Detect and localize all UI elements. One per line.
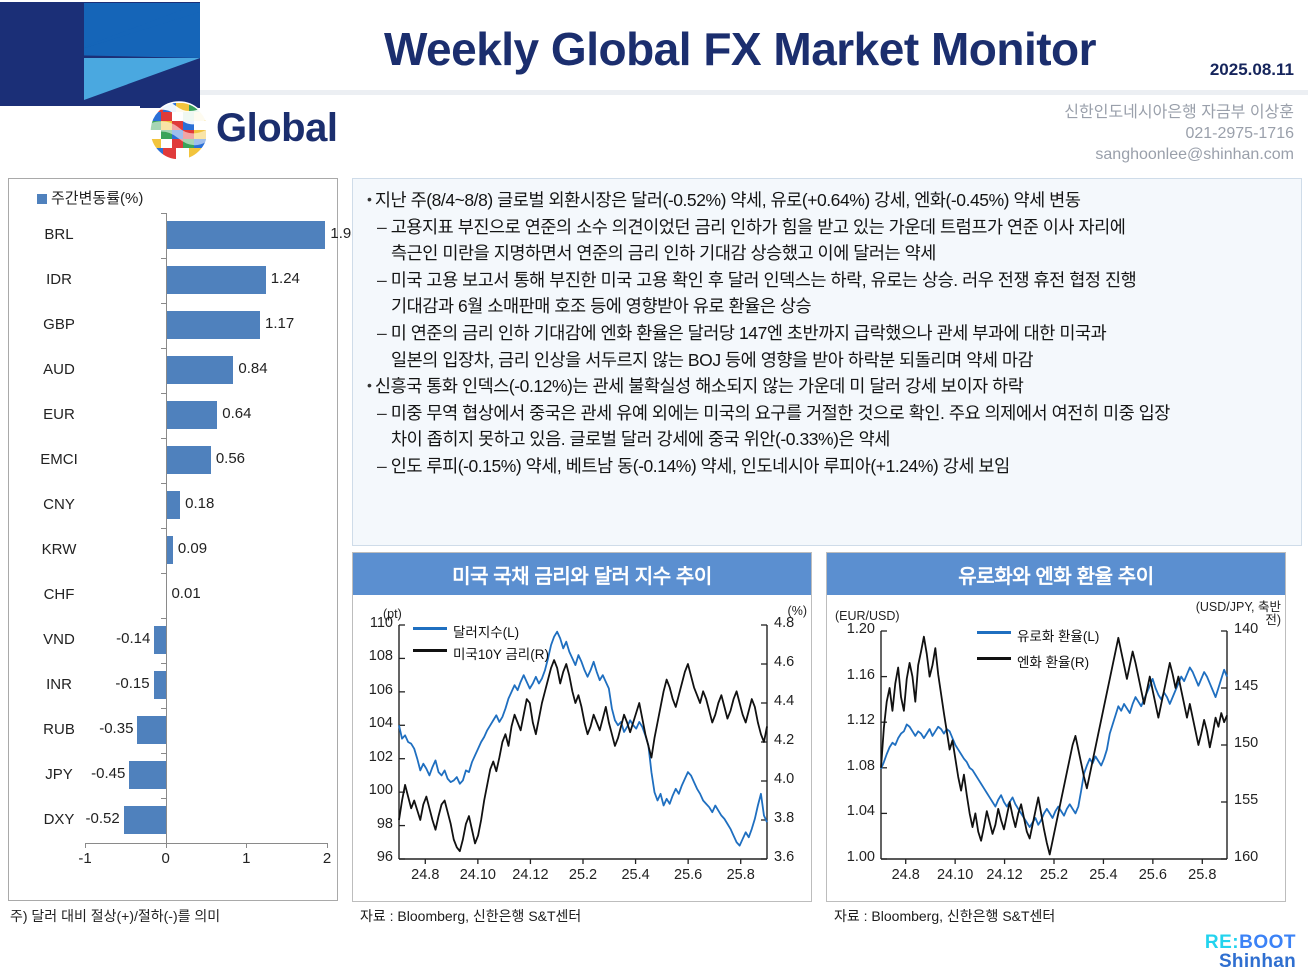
left-axis-tick-label: 98 <box>355 816 393 832</box>
bar-segment <box>166 311 260 339</box>
x-axis-tick-label: 1 <box>242 850 250 867</box>
reboot-shinhan-logo: RE:BOOT Shinhan <box>1205 933 1296 971</box>
commentary-line: 고용지표 부진으로 연준의 소수 의견이었던 금리 인하가 힘을 받고 있는 가… <box>363 214 1291 241</box>
x-axis-tick-label: 25.2 <box>569 867 597 883</box>
reboot-suffix: BOOT <box>1239 932 1296 953</box>
bar-plot-area: BRL1.98IDR1.24GBP1.17AUD0.84EUR0.64EMCI0… <box>9 213 337 863</box>
legend-label-1: 미국10Y 금리(R) <box>453 643 549 663</box>
contact-phone: 021-2975-1716 <box>1064 123 1294 144</box>
left-axis-tick-label: 108 <box>355 648 393 664</box>
commentary-line: 미국 고용 보고서 통해 부진한 미국 고용 확인 후 달러 인덱스는 하락, … <box>363 267 1291 294</box>
commentary-box: 지난 주(8/4~8/8) 글로벌 외환시장은 달러(-0.52%) 약세, 유… <box>352 178 1302 546</box>
right-axis-tick-label: 4.4 <box>774 693 794 709</box>
left-axis-tick-label: 96 <box>355 849 393 865</box>
x-axis-tick-label: 24.8 <box>892 867 920 883</box>
bar-row: BRL1.98 <box>9 213 337 258</box>
bar-value-label: 0.01 <box>171 585 200 602</box>
left-axis-tick-label: 1.08 <box>829 758 875 774</box>
series-line-0 <box>399 632 767 846</box>
legend-label: 주간변동률(%) <box>51 190 143 207</box>
weekly-change-bar-chart: 주간변동률(%) BRL1.98IDR1.24GBP1.17AUD0.84EUR… <box>8 178 338 901</box>
chart-body-eur-jpy: 1.001.041.081.121.161.201401451501551602… <box>827 595 1285 901</box>
x-axis-line <box>85 843 327 844</box>
bar-row: CNY0.18 <box>9 483 337 528</box>
left-axis-tick-label: 102 <box>355 749 393 765</box>
bar-segment <box>124 806 166 834</box>
bar-value-label: 0.18 <box>185 495 214 512</box>
legend-label-1: 엔화 환율(R) <box>1017 651 1089 671</box>
chart-body-ust-dxy: 96981001021041061081103.63.84.04.24.44.6… <box>353 595 811 901</box>
contact-name: 신한인도네시아은행 자금부 이상훈 <box>1064 102 1294 123</box>
legend-line-1 <box>977 657 1011 660</box>
right-axis-tick-label: 3.6 <box>774 849 794 865</box>
x-axis-tick-label: 25.6 <box>1139 867 1167 883</box>
left-axis-tick-label: 1.04 <box>829 803 875 819</box>
bar-row: VND-0.14 <box>9 618 337 663</box>
right-axis-tick-label: 4.0 <box>774 771 794 787</box>
bar-category-label: INR <box>29 676 89 693</box>
right-axis-unit: (%) <box>721 605 807 618</box>
commentary-line: 기대감과 6월 소매판매 호조 등에 영향받아 유로 환율은 상승 <box>363 293 1291 320</box>
right-axis-tick-label: 4.6 <box>774 654 794 670</box>
bar-category-label: RUB <box>29 721 89 738</box>
commentary-line: 미중 무역 협상에서 중국은 관세 유예 외에는 미국의 요구를 거절한 것으로… <box>363 400 1291 427</box>
header-divider <box>200 90 1308 95</box>
bar-segment <box>166 221 326 249</box>
bar-category-label: IDR <box>29 271 89 288</box>
bar-row: EUR0.64 <box>9 393 337 438</box>
bar-category-label: VND <box>29 631 89 648</box>
bar-value-label: 0.56 <box>216 450 245 467</box>
x-axis-tick-label: 25.8 <box>727 867 755 883</box>
left-axis-unit: (EUR/USD) <box>835 609 900 623</box>
legend-label-0: 유로화 환율(L) <box>1017 625 1099 645</box>
x-axis-tick <box>166 843 167 848</box>
commentary-line: 차이 좁히지 못하고 있음. 글로벌 달러 강세에 중국 위안(-0.33%)은… <box>363 426 1291 453</box>
bar-segment <box>137 716 165 744</box>
bar-category-label: JPY <box>29 766 89 783</box>
chart-title-eur-jpy: 유로화와 엔화 환율 추이 <box>827 553 1285 595</box>
commentary-line: 인도 루피(-0.15%) 약세, 베트남 동(-0.14%) 약세, 인도네시… <box>363 453 1291 480</box>
bar-segment <box>154 671 166 699</box>
bar-row: JPY-0.45 <box>9 753 337 798</box>
bar-row: KRW0.09 <box>9 528 337 573</box>
commentary-line: 미 연준의 금리 인하 기대감에 엔화 환율은 달러당 147엔 초반까지 급락… <box>363 320 1291 347</box>
contact-block: 신한인도네시아은행 자금부 이상훈 021-2975-1716 sanghoon… <box>1064 102 1294 165</box>
left-axis-tick-label: 100 <box>355 782 393 798</box>
bar-value-label: -0.15 <box>114 675 150 692</box>
right-axis-tick-label: 4.2 <box>774 732 794 748</box>
chart-source-left: 자료 : Bloomberg, 신한은행 S&T센터 <box>360 906 581 926</box>
bar-row: RUB-0.35 <box>9 708 337 753</box>
page-title: Weekly Global FX Market Monitor <box>380 22 1100 76</box>
x-axis-tick-label: 25.6 <box>674 867 702 883</box>
bar-segment <box>166 491 181 519</box>
bar-chart-note: 주) 달러 대비 절상(+)/절하(-)를 의미 <box>10 906 220 926</box>
shinhan-wordmark: Shinhan <box>1205 952 1296 971</box>
bar-category-label: EMCI <box>29 451 89 468</box>
bar-segment <box>166 266 266 294</box>
bar-value-label: -0.45 <box>89 765 125 782</box>
contact-email: sanghoonlee@shinhan.com <box>1064 144 1294 165</box>
commentary-line: 측근인 미란을 지명하면서 연준의 금리 인하 기대감 상승했고 이에 달러는 … <box>363 240 1291 267</box>
right-axis-tick-label: 3.8 <box>774 810 794 826</box>
bar-value-label: -0.35 <box>97 720 133 737</box>
commentary-line: 신흥국 통화 인덱스(-0.12%)는 관세 불확실성 해소되지 않는 가운데 … <box>363 373 1291 400</box>
series-line-0 <box>881 667 1227 827</box>
bar-segment <box>166 536 173 564</box>
reboot-prefix: RE: <box>1205 932 1239 953</box>
x-axis-tick-label: 24.10 <box>460 867 496 883</box>
legend-label-0: 달러지수(L) <box>453 621 519 641</box>
bar-value-label: 0.84 <box>238 360 267 377</box>
legend-swatch-icon <box>37 194 47 204</box>
bar-chart-legend: 주간변동률(%) <box>37 187 143 208</box>
bar-row: AUD0.84 <box>9 348 337 393</box>
x-axis-tick-label: 0 <box>161 850 169 867</box>
bar-category-label: CHF <box>29 586 89 603</box>
left-axis-tick-label: 1.12 <box>829 712 875 728</box>
bar-category-label: AUD <box>29 361 89 378</box>
chart-panel-ust-dxy: 미국 국채 금리와 달러 지수 추이 969810010210410610811… <box>352 552 812 902</box>
series-line-1 <box>399 660 767 851</box>
bar-category-label: KRW <box>29 541 89 558</box>
left-axis-tick-label: 1.16 <box>829 667 875 683</box>
x-axis-tick <box>85 843 86 848</box>
legend-line-0 <box>977 631 1011 634</box>
x-axis-tick-label: 24.8 <box>411 867 439 883</box>
x-axis-tick-label: 24.12 <box>986 867 1022 883</box>
legend-line-1 <box>413 649 447 652</box>
bar-category-label: BRL <box>29 226 89 243</box>
report-date: 2025.08.11 <box>1210 60 1294 80</box>
right-axis-tick-label: 150 <box>1234 735 1258 751</box>
section-label: Global <box>216 106 337 151</box>
page-header: Weekly Global FX Market Monitor 2025.08.… <box>0 0 1308 172</box>
bar-row: EMCI0.56 <box>9 438 337 483</box>
left-axis-unit: (pt) <box>383 607 402 621</box>
reboot-wordmark: RE:BOOT <box>1205 933 1296 952</box>
x-axis-tick-label: -1 <box>78 850 91 867</box>
bar-category-label: EUR <box>29 406 89 423</box>
bar-row: DXY-0.52 <box>9 798 337 843</box>
bar-segment <box>154 626 165 654</box>
legend-line-0 <box>413 627 447 630</box>
x-axis-tick-label: 2 <box>323 850 331 867</box>
bar-category-label: GBP <box>29 316 89 333</box>
bar-row: GBP1.17 <box>9 303 337 348</box>
bar-row: IDR1.24 <box>9 258 337 303</box>
left-axis-tick-label: 1.00 <box>829 849 875 865</box>
bar-segment <box>166 446 211 474</box>
bar-category-label: DXY <box>29 811 89 828</box>
left-axis-tick-label: 106 <box>355 682 393 698</box>
x-axis-tick-label: 25.8 <box>1188 867 1216 883</box>
x-axis-tick-label: 25.4 <box>1089 867 1117 883</box>
x-axis-tick-label: 25.2 <box>1040 867 1068 883</box>
x-axis-tick-label: 24.10 <box>937 867 973 883</box>
bar-value-label: 0.09 <box>178 540 207 557</box>
left-axis-tick-label: 1.20 <box>829 621 875 637</box>
right-axis-tick-label: 160 <box>1234 849 1258 865</box>
commentary-line: 일본의 입장차, 금리 인상을 서두르지 않는 BOJ 등에 영향을 받아 하락… <box>363 347 1291 374</box>
x-axis-tick-label: 25.4 <box>621 867 649 883</box>
bar-value-label: 1.17 <box>265 315 294 332</box>
bar-value-label: -0.14 <box>114 630 150 647</box>
left-axis-tick-label: 104 <box>355 715 393 731</box>
chart-source-right: 자료 : Bloomberg, 신한은행 S&T센터 <box>834 906 1055 926</box>
right-axis-tick-label: 145 <box>1234 678 1258 694</box>
x-axis-tick <box>327 843 328 848</box>
bar-category-label: CNY <box>29 496 89 513</box>
right-axis-unit: (USD/JPY, 축반전) <box>1195 601 1281 627</box>
bar-value-label: -0.52 <box>84 810 120 827</box>
bar-value-label: 1.24 <box>271 270 300 287</box>
x-axis-tick <box>246 843 247 848</box>
bar-value-label: 0.64 <box>222 405 251 422</box>
right-axis-tick-label: 155 <box>1234 792 1258 808</box>
bar-segment <box>129 761 165 789</box>
commentary-line: 지난 주(8/4~8/8) 글로벌 외환시장은 달러(-0.52%) 약세, 유… <box>363 187 1291 214</box>
line-chart-svg <box>353 595 811 901</box>
chart-panel-eur-jpy: 유로화와 엔화 환율 추이 1.001.041.081.121.161.2014… <box>826 552 1286 902</box>
chart-title-ust-dxy: 미국 국채 금리와 달러 지수 추이 <box>353 553 811 595</box>
zero-axis-line <box>166 213 167 843</box>
bar-row: CHF0.01 <box>9 573 337 618</box>
bar-row: INR-0.15 <box>9 663 337 708</box>
bar-segment <box>166 356 234 384</box>
world-flags-globe-icon <box>148 100 210 162</box>
shinhan-arrow-logo-detail-icon <box>0 0 200 108</box>
x-axis-tick-label: 24.12 <box>512 867 548 883</box>
bar-segment <box>166 401 218 429</box>
